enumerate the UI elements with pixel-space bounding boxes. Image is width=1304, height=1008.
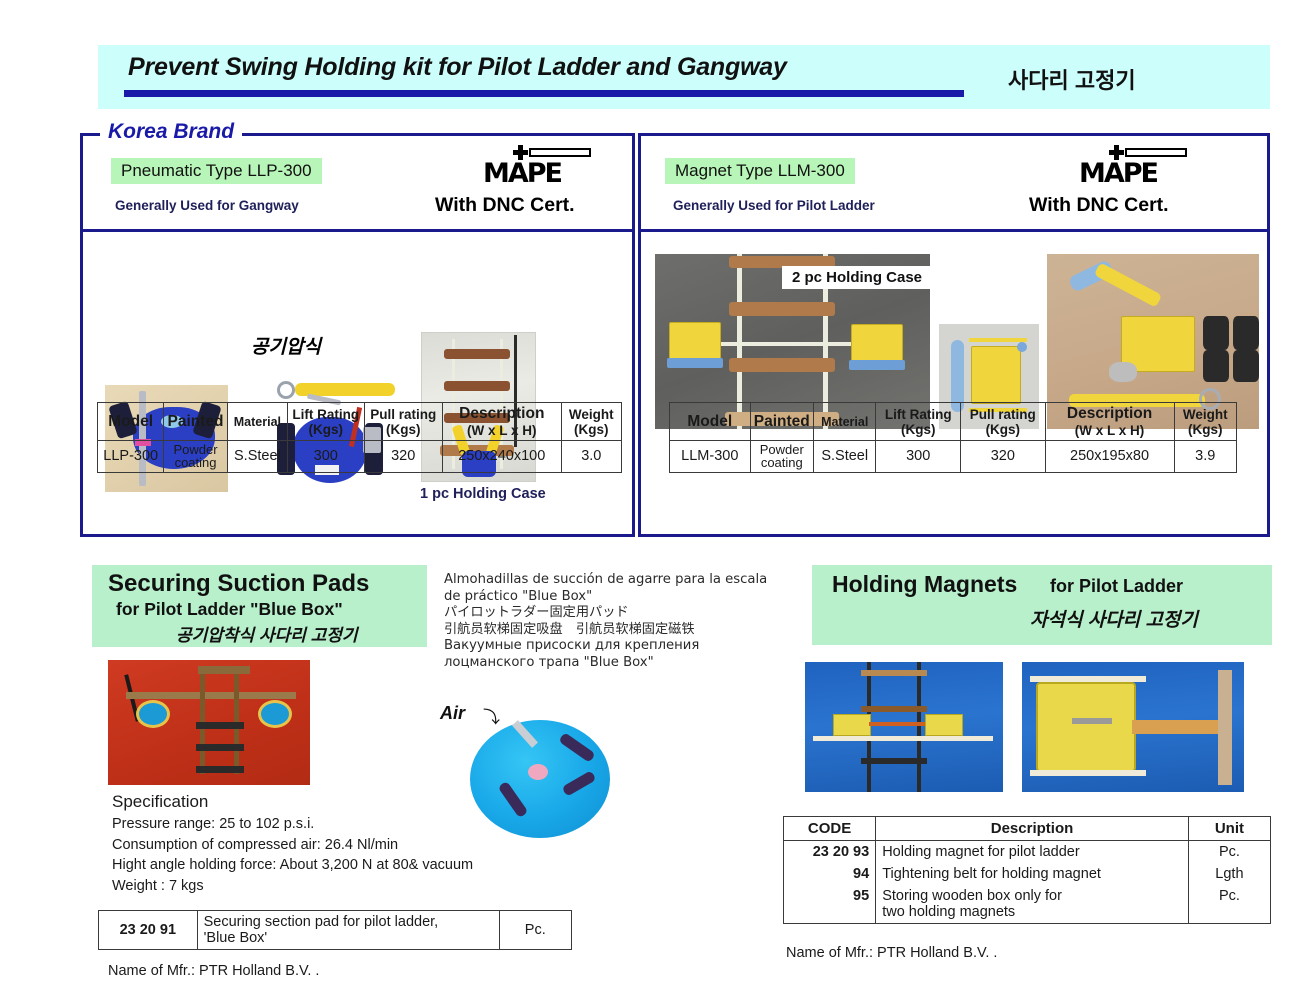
brand-label: Korea Brand	[100, 120, 242, 144]
multilang-line-ru-1: Вакуумные присоски для крепления	[444, 638, 804, 655]
type-subtitle-magnet: Generally Used for Pilot Ladder	[673, 198, 875, 213]
cell-unit: Pc.	[1188, 885, 1270, 924]
cell-pull-rating: 320	[364, 441, 442, 473]
th-painted: Painted	[750, 403, 813, 441]
mape-bar-shape	[529, 148, 591, 157]
th-code: CODE	[784, 817, 876, 841]
th-weight-l2: (Kgs)	[565, 422, 618, 437]
caption-holding-case-1pc: 1 pc Holding Case	[420, 486, 546, 502]
specification-title: Specification	[112, 792, 473, 812]
spec-line-holding-force: Hight angle holding force: About 3,200 N…	[112, 855, 473, 876]
th-description-l2: (W x L x H)	[1049, 423, 1171, 438]
mape-bar-shape	[1125, 148, 1187, 157]
th-material: Material	[813, 403, 875, 441]
cell-code: 95	[784, 885, 876, 924]
cell-description: 250x240x100	[442, 441, 561, 473]
multilang-line-ru-2: лоцманского трапа "Blue Box"	[444, 655, 804, 672]
suction-pads-korean: 공기압착식 사다리 고정기	[176, 621, 358, 646]
cell-unit: Lgth	[1188, 863, 1270, 885]
cell-material: S.Steel	[227, 441, 287, 473]
product-photo-red-hull-pads	[108, 660, 310, 785]
mape-logo-icon: MAPE	[1079, 146, 1199, 192]
manufacturer-suction: Name of Mfr.: PTR Holland B.V. .	[108, 963, 319, 979]
korean-label-pneumatic: 공기압식	[251, 332, 321, 359]
multilang-line-zh: 引航员软梯固定吸盘 引航员软梯固定磁铁	[444, 622, 804, 639]
title-underline	[124, 90, 964, 97]
brand-dash	[80, 133, 102, 136]
type-subtitle-pneumatic: Generally Used for Gangway	[115, 198, 299, 213]
table-header-row: Model Painted Material Lift Rating (Kgs)…	[98, 403, 622, 441]
th-weight-l1: Weight	[565, 407, 618, 422]
product-photo-magnet-closeup	[1022, 662, 1244, 792]
cell-pull-rating: 320	[961, 441, 1046, 473]
dnc-cert-pneumatic: With DNC Cert.	[435, 194, 575, 217]
panel-pneumatic: Pneumatic Type LLP-300 Generally Used fo…	[80, 133, 635, 537]
th-pull-rating: Pull rating (Kgs)	[364, 403, 442, 441]
catalog-page: Prevent Swing Holding kit for Pilot Ladd…	[0, 0, 1304, 1008]
panel-magnet: Magnet Type LLM-300 Generally Used for P…	[638, 133, 1270, 537]
th-pull-rating-l1: Pull rating	[368, 407, 439, 422]
type-badge-magnet: Magnet Type LLM-300	[665, 158, 855, 184]
table-header-row: Model Painted Material Lift Rating (Kgs)…	[670, 403, 1237, 441]
section-header-holding-magnets: Holding Magnets for Pilot Ladder 자석식 사다리…	[812, 565, 1272, 645]
multilang-line-es-1: Almohadillas de succión de agarre para l…	[444, 572, 804, 589]
th-description-l1: Description	[1049, 405, 1171, 423]
panel-magnet-header: Magnet Type LLM-300 Generally Used for P…	[641, 136, 1267, 232]
spec-table-pneumatic: Model Painted Material Lift Rating (Kgs)…	[97, 402, 622, 473]
cell-description: Holding magnet for pilot ladder	[876, 841, 1189, 864]
mape-wordmark: MAPE	[483, 160, 561, 187]
spec-line-weight: Weight : 7 kgs	[112, 876, 473, 897]
th-weight: Weight (Kgs)	[561, 403, 621, 441]
code-table-magnets: CODE Description Unit 23 20 93 Holding m…	[783, 816, 1271, 924]
th-description: Description (W x L x H)	[1045, 403, 1174, 441]
mape-wordmark: MAPE	[1079, 160, 1157, 187]
th-model: Model	[670, 403, 751, 441]
th-lift-rating-l1: Lift Rating	[879, 407, 957, 422]
table-row: 23 20 93 Holding magnet for pilot ladder…	[784, 841, 1271, 864]
table-row: 95 Storing wooden box only for two holdi…	[784, 885, 1271, 924]
th-description: Description (W x L x H)	[442, 403, 561, 441]
th-lift-rating-l1: Lift Rating	[291, 407, 360, 422]
cell-lift-rating: 300	[876, 441, 961, 473]
type-badge-pneumatic: Pneumatic Type LLP-300	[111, 158, 322, 184]
cell-code: 23 20 91	[99, 911, 198, 950]
multilang-line-es-2: de práctico "Blue Box"	[444, 589, 804, 606]
caption-holding-case-2pc: 2 pc Holding Case	[782, 266, 930, 289]
product-photo-ladder-blue-hull	[805, 662, 1003, 792]
air-label: Air	[440, 703, 465, 724]
th-pull-rating: Pull rating (Kgs)	[961, 403, 1046, 441]
cell-model: LLM-300	[670, 441, 751, 473]
holding-magnets-title2: for Pilot Ladder	[1050, 576, 1183, 597]
page-title: Prevent Swing Holding kit for Pilot Ladd…	[128, 53, 787, 82]
th-weight-l2: (Kgs)	[1178, 422, 1233, 437]
section-header-suction-pads: Securing Suction Pads for Pilot Ladder "…	[92, 565, 427, 647]
cell-lift-rating: 300	[288, 441, 364, 473]
cell-weight: 3.9	[1174, 441, 1236, 473]
cell-description-l2: two holding magnets	[882, 904, 1182, 920]
th-weight-l1: Weight	[1178, 407, 1233, 422]
th-lift-rating: Lift Rating (Kgs)	[876, 403, 961, 441]
cell-code: 94	[784, 863, 876, 885]
suction-pads-subtitle: for Pilot Ladder "Blue Box"	[116, 599, 343, 620]
th-pull-rating-l1: Pull rating	[964, 407, 1042, 422]
th-description: Description	[876, 817, 1189, 841]
cell-painted: Powder coating	[164, 441, 227, 473]
multilang-line-ja: パイロットラダー固定用パッド	[444, 605, 804, 622]
cell-painted: Powder coating	[750, 441, 813, 473]
table-row: LLP-300 Powder coating S.Steel 300 320 2…	[98, 441, 622, 473]
manufacturer-magnets: Name of Mfr.: PTR Holland B.V. .	[786, 945, 997, 961]
spec-table-magnet: Model Painted Material Lift Rating (Kgs)…	[669, 402, 1237, 473]
th-lift-rating-l2: (Kgs)	[879, 422, 957, 437]
cell-description-l1: Storing wooden box only for	[882, 888, 1182, 904]
page-title-korean: 사다리 고정기	[1008, 63, 1136, 95]
th-unit: Unit	[1188, 817, 1270, 841]
holding-magnets-korean: 자석식 사다리 고정기	[1030, 605, 1198, 632]
table-row: 94 Tightening belt for holding magnet Lg…	[784, 863, 1271, 885]
multilang-description: Almohadillas de succión de agarre para l…	[444, 572, 804, 671]
title-banner: Prevent Swing Holding kit for Pilot Ladd…	[98, 45, 1270, 109]
spec-line-pressure: Pressure range: 25 to 102 p.s.i.	[112, 814, 473, 835]
cell-code: 23 20 93	[784, 841, 876, 864]
panel-pneumatic-body: 공기압식	[83, 232, 632, 534]
table-header-row: CODE Description Unit	[784, 817, 1271, 841]
spec-line-consumption: Consumption of compressed air: 26.4 Nl/m…	[112, 835, 473, 856]
cell-description: Storing wooden box only for two holding …	[876, 885, 1189, 924]
th-painted: Painted	[164, 403, 227, 441]
cell-description: 250x195x80	[1045, 441, 1174, 473]
suction-pads-title: Securing Suction Pads	[108, 570, 369, 598]
specification-block: Specification Pressure range: 25 to 102 …	[112, 792, 473, 896]
th-description-l1: Description	[446, 405, 558, 423]
cell-model: LLP-300	[98, 441, 164, 473]
th-pull-rating-l2: (Kgs)	[368, 422, 439, 437]
cell-unit: Pc.	[499, 911, 571, 950]
cell-unit: Pc.	[1188, 841, 1270, 864]
dnc-cert-magnet: With DNC Cert.	[1029, 194, 1169, 217]
code-table-suction: 23 20 91 Securing section pad for pilot …	[98, 910, 572, 950]
cell-weight: 3.0	[561, 441, 621, 473]
cell-description-l2: 'Blue Box'	[204, 930, 493, 946]
panel-magnet-body: 자석식 2 pc Holding Case	[641, 232, 1267, 534]
th-lift-rating: Lift Rating (Kgs)	[288, 403, 364, 441]
th-material: Material	[227, 403, 287, 441]
cell-material: S.Steel	[813, 441, 875, 473]
th-lift-rating-l2: (Kgs)	[291, 422, 360, 437]
th-model: Model	[98, 403, 164, 441]
panel-pneumatic-header: Pneumatic Type LLP-300 Generally Used fo…	[83, 136, 632, 232]
holding-magnets-title: Holding Magnets	[832, 571, 1017, 598]
cell-description-l1: Securing section pad for pilot ladder,	[204, 914, 493, 930]
cell-description: Tightening belt for holding magnet	[876, 863, 1189, 885]
product-photo-blue-suction-disc	[470, 720, 610, 838]
th-description-l2: (W x L x H)	[446, 423, 558, 438]
cell-description: Securing section pad for pilot ladder, '…	[197, 911, 499, 950]
table-row: 23 20 91 Securing section pad for pilot …	[99, 911, 572, 950]
th-pull-rating-l2: (Kgs)	[964, 422, 1042, 437]
table-row: LLM-300 Powder coating S.Steel 300 320 2…	[670, 441, 1237, 473]
th-weight: Weight (Kgs)	[1174, 403, 1236, 441]
mape-logo-icon: MAPE	[483, 146, 603, 192]
